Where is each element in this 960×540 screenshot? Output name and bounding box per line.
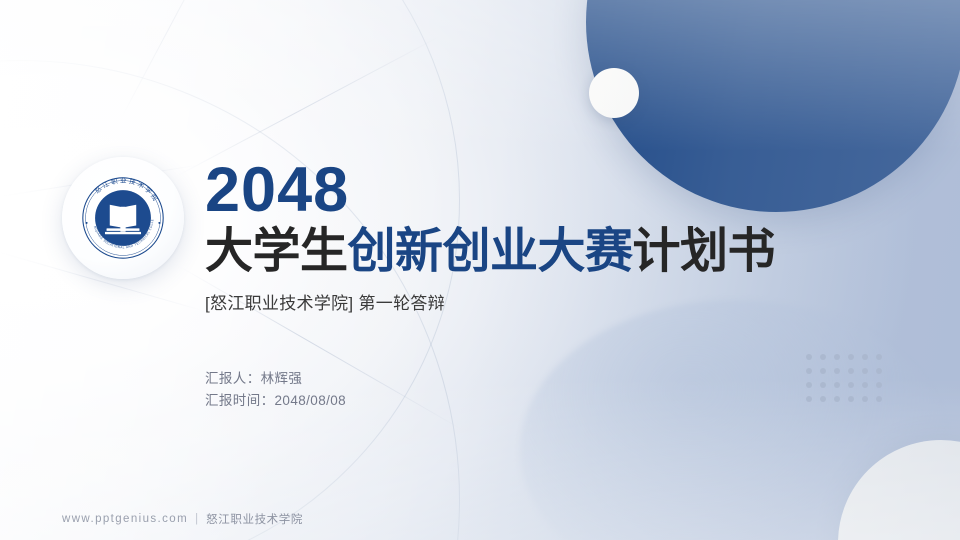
grid-dot (848, 382, 854, 388)
grid-dot (834, 396, 840, 402)
dot-grid-decoration (806, 354, 890, 410)
grid-dot (876, 396, 882, 402)
grid-dot (806, 396, 812, 402)
report-date-line: 汇报时间：2048/08/08 (205, 390, 346, 412)
grid-dot (876, 354, 882, 360)
college-logo: 怒江职业技术学院 NUJIANG VOCATIONAL AND TECHNICA… (62, 157, 184, 279)
year-heading: 2048 (205, 158, 845, 222)
grid-dot (862, 354, 868, 360)
title-block: 2048 大学生创新创业大赛计划书 [怒江职业技术学院] 第一轮答辩 (205, 158, 845, 316)
radiating-hairline-5 (120, 0, 234, 121)
grid-dot (848, 354, 854, 360)
grid-dot (834, 382, 840, 388)
white-circle-decoration (589, 68, 639, 118)
grid-dot (820, 368, 826, 374)
footer-website: www.pptgenius.com (62, 513, 188, 525)
presenter-meta: 汇报人：林辉强 汇报时间：2048/08/08 (205, 368, 346, 412)
grid-dot (806, 382, 812, 388)
presentation-cover-slide: 怒江职业技术学院 NUJIANG VOCATIONAL AND TECHNICA… (0, 0, 960, 540)
subtitle: [怒江职业技术学院] 第一轮答辩 (205, 292, 845, 316)
grid-dot (848, 396, 854, 402)
grid-dot (806, 368, 812, 374)
grid-dot (848, 368, 854, 374)
footer-organization: 怒江职业技术学院 (206, 511, 303, 527)
grid-dot (862, 382, 868, 388)
grid-dot (820, 396, 826, 402)
footer: www.pptgenius.com | 怒江职业技术学院 (62, 511, 303, 527)
grid-dot (862, 396, 868, 402)
presenter-line: 汇报人：林辉强 (205, 368, 346, 390)
title-part-plain-1: 大学生 (205, 225, 348, 278)
grid-dot (876, 368, 882, 374)
title-part-accent: 创新创业大赛 (348, 225, 633, 278)
grid-dot (862, 368, 868, 374)
college-emblem-icon: 怒江职业技术学院 NUJIANG VOCATIONAL AND TECHNICA… (74, 169, 172, 267)
footer-separator: | (195, 513, 199, 525)
page-title: 大学生创新创业大赛计划书 (205, 224, 845, 280)
grid-dot (834, 368, 840, 374)
grid-dot (820, 382, 826, 388)
grid-dot (820, 354, 826, 360)
title-part-plain-2: 计划书 (633, 225, 776, 278)
grid-dot (876, 382, 882, 388)
grid-dot (834, 354, 840, 360)
grid-dot (806, 354, 812, 360)
